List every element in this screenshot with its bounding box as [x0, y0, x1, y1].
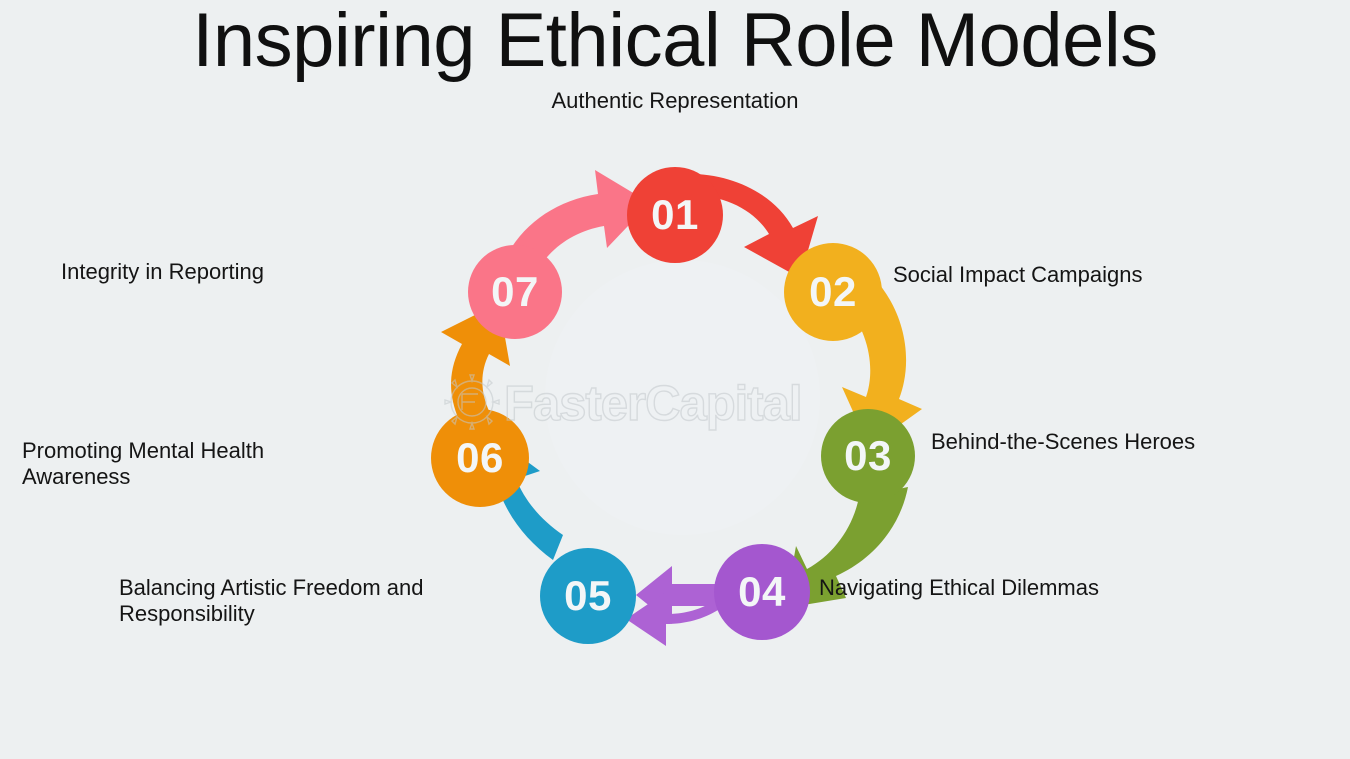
- step-label-04: Navigating Ethical Dilemmas: [819, 575, 1269, 601]
- step-number-04: 04: [702, 571, 822, 613]
- step-label-06: Promoting Mental Health Awareness: [22, 438, 452, 490]
- step-label-07: Integrity in Reporting: [61, 259, 461, 285]
- step-number-01: 01: [615, 194, 735, 236]
- step-number-02: 02: [773, 271, 893, 313]
- step-number-07: 07: [455, 271, 575, 313]
- step-label-05: Balancing Artistic Freedom and Responsib…: [119, 575, 549, 627]
- slide-canvas: Inspiring Ethical Role Models: [0, 0, 1350, 759]
- step-label-03: Behind-the-Scenes Heroes: [931, 429, 1341, 455]
- step-label-02: Social Impact Campaigns: [893, 262, 1323, 288]
- step-label-01: Authentic Representation: [0, 88, 1350, 114]
- step-number-03: 03: [808, 435, 928, 477]
